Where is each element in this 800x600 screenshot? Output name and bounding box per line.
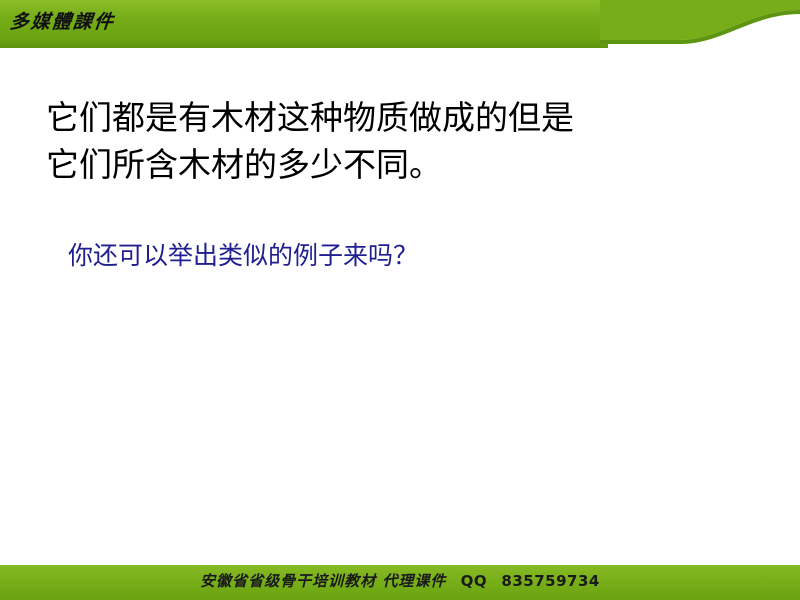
question-text: 你还可以举出类似的例子来吗？ (68, 238, 768, 273)
main-statement-line-2: 它们所含木材的多少不同。 (46, 142, 746, 189)
top-banner: 多媒體課件 (0, 0, 800, 48)
banner-title: 多媒體課件 (9, 7, 117, 34)
footer-credit-text: 安徽省省级骨干培训教材 代理课件 (200, 572, 446, 590)
footer-qq-number: 835759734 (501, 572, 599, 590)
slide-canvas: 多媒體課件 它们都是有木材这种物质做成的但是 它们所含木材的多少不同。 你还可以… (0, 0, 800, 600)
footer-qq-label: QQ (461, 572, 488, 590)
banner-bar-shadow (0, 40, 608, 48)
footer-credit: 安徽省省级骨干培训教材 代理课件 QQ 835759734 (0, 570, 800, 591)
main-statement-line-1: 它们都是有木材这种物质做成的但是 (46, 95, 746, 142)
main-statement: 它们都是有木材这种物质做成的但是 它们所含木材的多少不同。 (46, 95, 746, 189)
banner-curve-decoration (600, 0, 800, 48)
